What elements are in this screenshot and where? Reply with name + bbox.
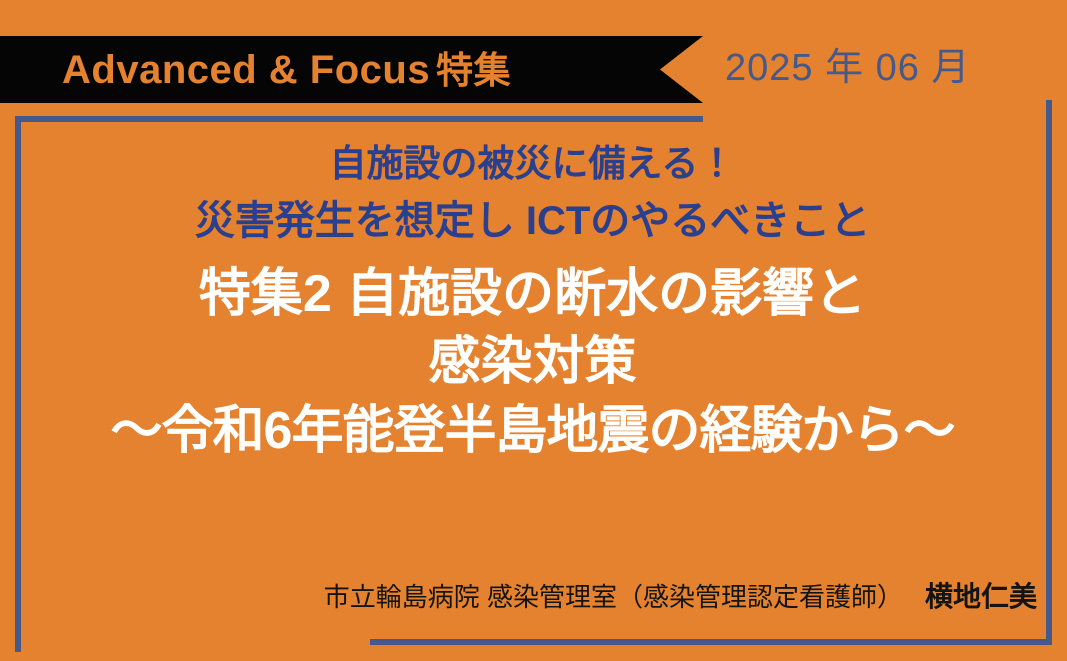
issue-date: 2025 年 06 月 [725,46,970,92]
series-label: Advanced & Focus特集 [0,50,511,90]
feature-title-line-1: 特集2 自施設の断水の影響と [25,263,1040,325]
kicker-line-2: 災害発生を想定し ICTのやるべきこと [25,198,1040,245]
frame-bottom-border [370,639,1052,645]
feature-title-line-2: 感染対策 [25,331,1040,393]
kicker-line-1: 自施設の被災に備える！ [25,142,1040,186]
headline-block: 自施設の被災に備える！ 災害発生を想定し ICTのやるべきこと 特集2 自施設の… [25,128,1040,462]
frame-top-border [15,116,703,122]
frame-left-border [15,116,21,652]
feature-subtitle: 〜令和6年能登半島地震の経験から〜 [25,400,1040,462]
byline-author-name: 横地仁美 [903,581,1037,612]
series-ribbon-banner: Advanced & Focus特集 [0,36,703,103]
frame-right-border [1046,100,1052,645]
series-label-japanese: 特集 [430,50,511,91]
series-label-latin: Advanced & Focus [62,48,430,92]
byline: 市立輪島病院 感染管理室（感染管理認定看護師）横地仁美 [324,580,1037,614]
magazine-feature-cover: Advanced & Focus特集 2025 年 06 月 自施設の被災に備え… [0,0,1067,661]
byline-affiliation: 市立輪島病院 感染管理室（感染管理認定看護師） [324,582,903,612]
